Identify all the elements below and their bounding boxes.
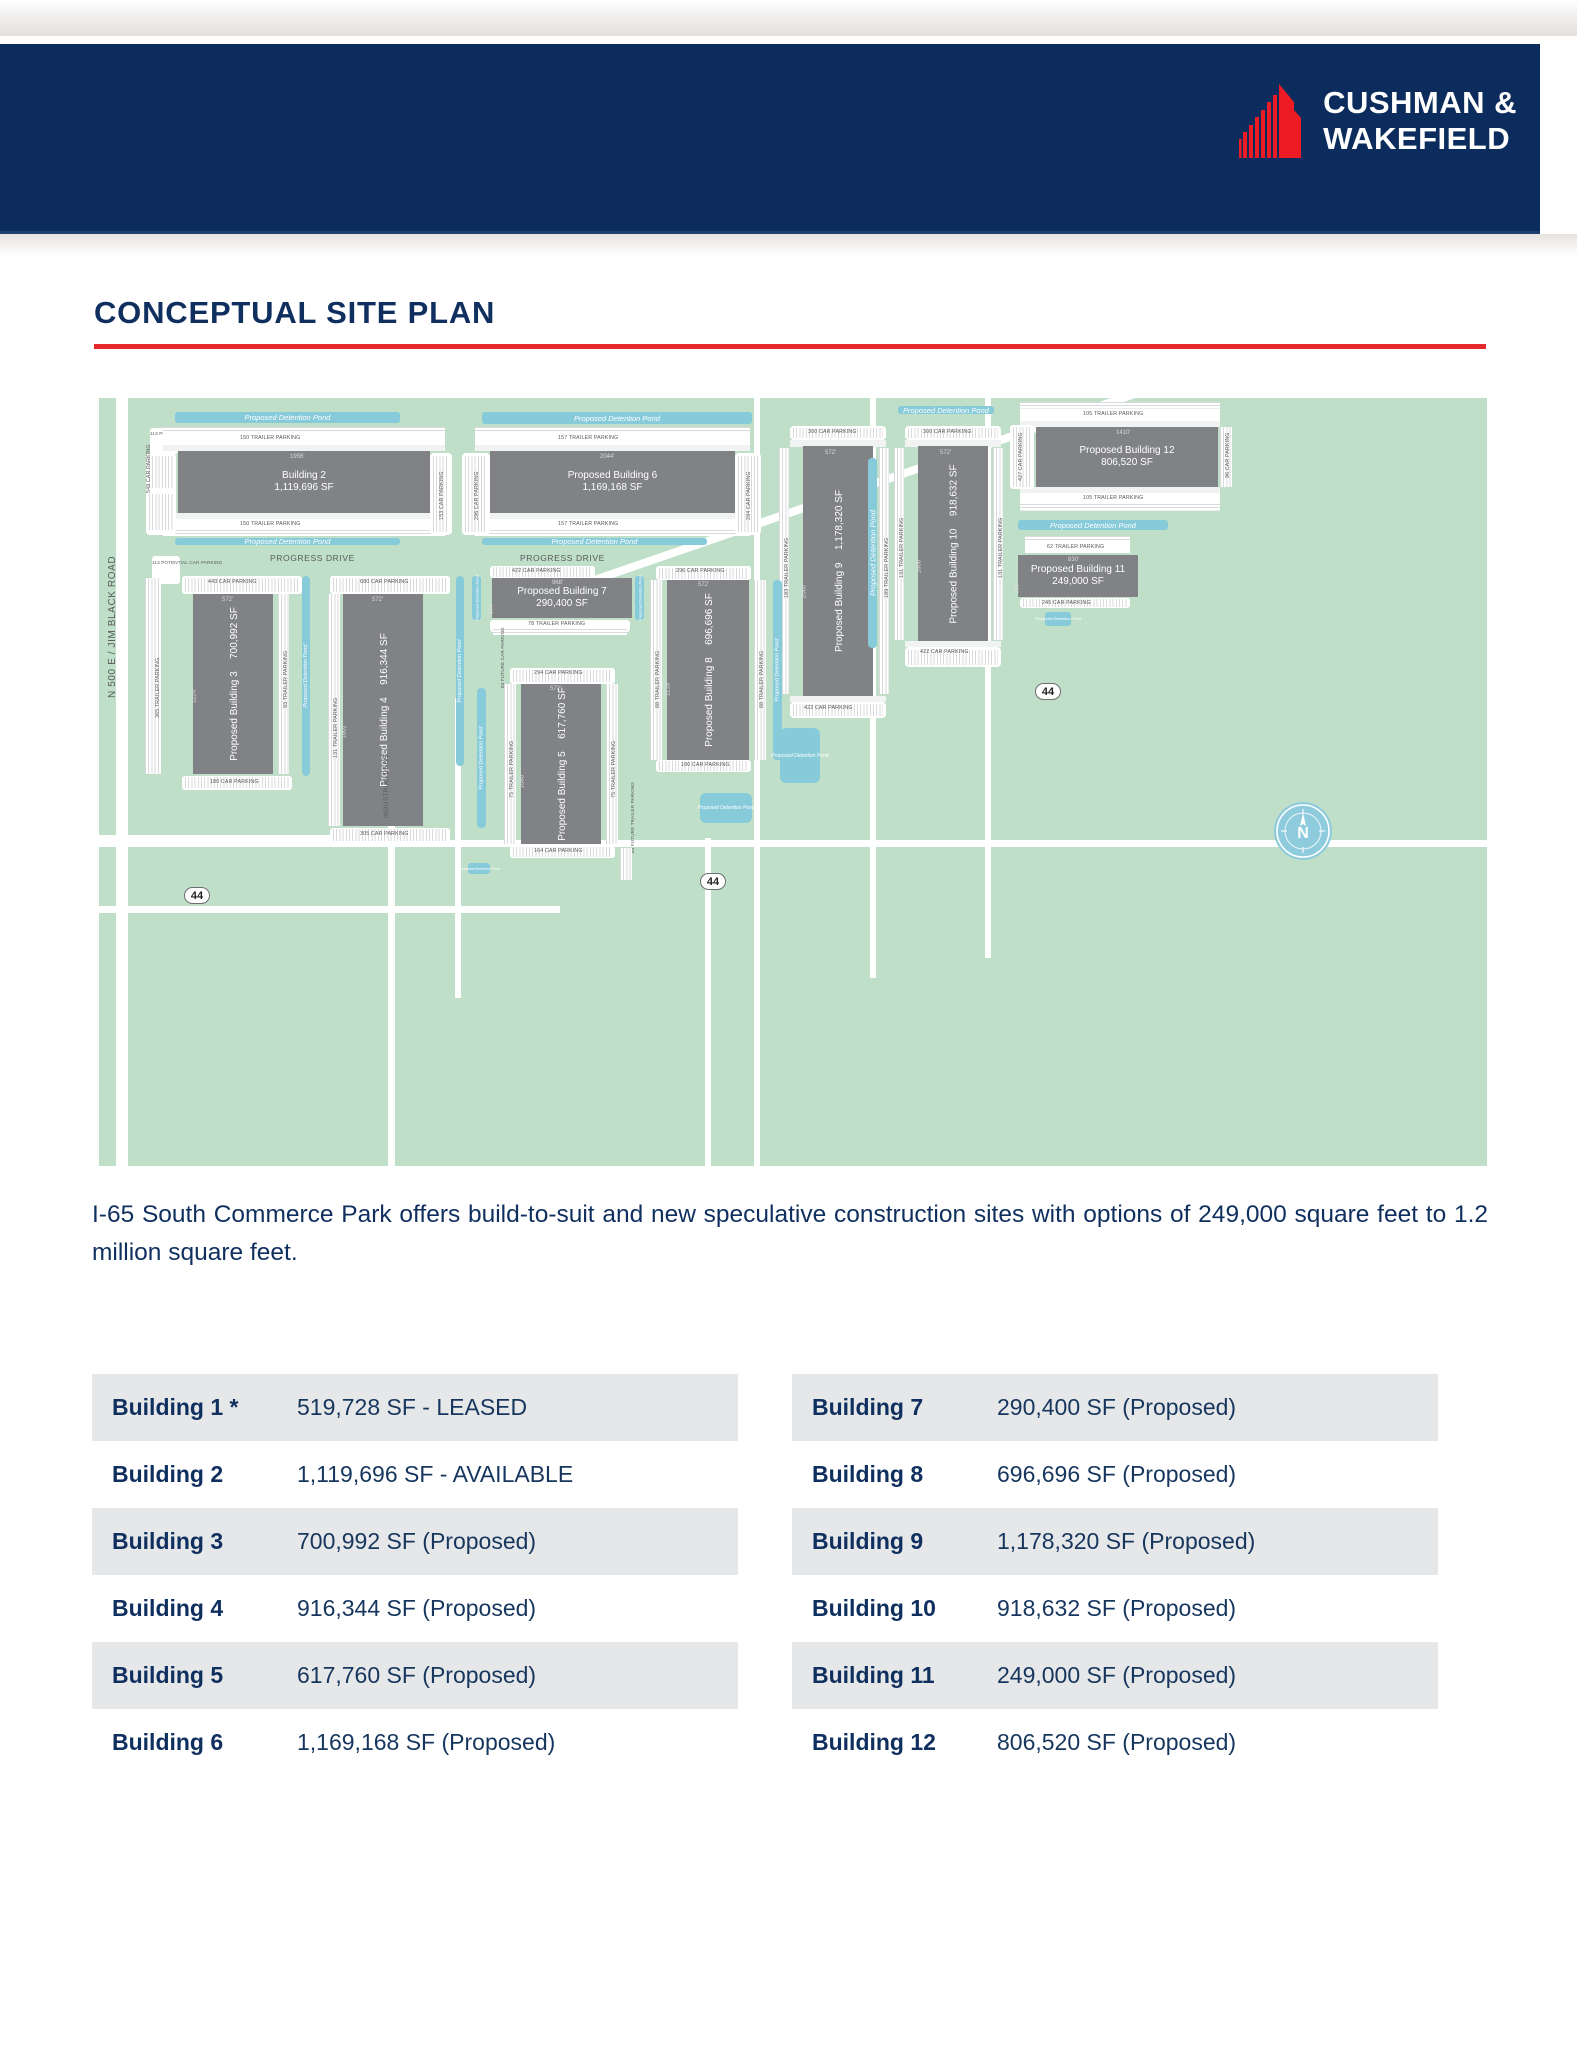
dim-b3-depth: 1224' [191,689,197,704]
pond-label: Proposed Detention Pond [468,863,490,874]
parking-label-305-car: 305 CAR PARKING [360,831,409,837]
parking-label-131-trailer-e: 131 TRAILER PARKING [998,518,1004,578]
building-value: 918,632 SF (Proposed) [997,1595,1236,1622]
parking-label-131-trailer-b4: 131 TRAILER PARKING [333,698,339,758]
conceptual-site-plan-map[interactable]: 113 POTENTIAL CAR PARKING Proposed Deten… [90,398,1487,1166]
pond-label: Proposed Detention Pond [700,793,752,823]
parking-label-296-car: 296 CAR PARKING [474,471,480,520]
building-sf: 1,169,168 SF [582,482,642,495]
building-sf: 806,520 SF [1101,457,1153,470]
pond-b11-south: Proposed Detention Pond [1045,612,1071,626]
dim-b11-depth: 300' [1015,582,1021,593]
parking-label-75-trailer-w: 75 TRAILER PARKING [509,741,515,798]
building-label: Building 10 [812,1595,997,1622]
header-lower-gradient-strip [0,234,1577,256]
table-row[interactable]: Building 8 696,696 SF (Proposed) [792,1441,1438,1508]
building-value: 519,728 SF - LEASED [297,1394,527,1421]
parking-label-78-trailer: 78 TRAILER PARKING [528,621,585,627]
site-plan-page: CUSHMAN & WAKEFIELD CONCEPTUAL SITE PLAN [0,0,1577,2048]
stalls-b7-trailer-s [493,629,627,635]
brand-name-line-1: CUSHMAN & [1323,85,1517,121]
parking-label-96-car: 96 CAR PARKING [1225,432,1231,478]
pond-b6-north: Proposed Detention Pond [482,412,752,424]
building-b2[interactable]: Building 2 1,119,696 SF [178,451,430,513]
building-name: Proposed Building 11 [1031,564,1125,577]
parking-label-680-car: 680 CAR PARKING [360,579,409,585]
highway-shield-44-sw: 44 [184,887,210,904]
parking-label-62-trailer: 62 TRAILER PARKING [1047,544,1104,550]
building-value: 696,696 SF (Proposed) [997,1461,1236,1488]
parking-label-300-car-b10: 300 CAR PARKING [923,429,972,435]
parking-label-300-car-b9: 300 CAR PARKING [808,429,857,435]
building-sf: 249,000 SF [1052,576,1104,589]
stalls-b2-car-west-a [149,456,173,488]
building-value: 1,169,168 SF (Proposed) [297,1729,555,1756]
parking-label-427-car: 427 CAR PARKING [1018,432,1024,481]
table-row[interactable]: Building 12 806,520 SF (Proposed) [792,1709,1438,1776]
parking-label-150-trailer-n: 150 TRAILER PARKING [240,435,300,441]
table-row[interactable]: Building 6 1,169,168 SF (Proposed) [92,1709,738,1776]
parking-label-164-car: 164 CAR PARKING [534,848,583,854]
svg-text:N: N [1297,825,1309,842]
parking-label-549-car: 549 CAR PARKING [146,444,152,493]
table-row[interactable]: Building 3 700,992 SF (Proposed) [92,1508,738,1575]
stalls-b2-trailer-s [163,530,445,536]
page-top-white-gap [0,36,1577,44]
building-name: Proposed Building 9 [834,562,845,652]
pond-sw-small: Proposed Detention Pond [468,863,490,874]
parking-label-157-trailer-n: 157 TRAILER PARKING [558,435,618,441]
pond-label: Proposed Detention Pond [412,754,552,763]
building-label: Building 5 [112,1662,297,1689]
dim-b4-width: 572' [372,597,383,603]
building-label: Building 7 [812,1394,997,1421]
pond-label: Proposed Detention Pond [780,728,820,783]
building-label: Building 4 [112,1595,297,1622]
pond-label: Proposed Detention Pond [1018,520,1168,530]
building-name: Proposed Building 10 [949,528,960,623]
pond-west-of-b5: Proposed Detention Pond [477,688,486,828]
building-b10[interactable]: Proposed Building 10 918,632 SF [918,446,988,641]
building-b4[interactable]: Proposed Building 4 916,344 SF [343,594,423,826]
parking-label-105-trailer-s: 105 TRAILER PARKING [1083,495,1143,501]
building-sf: 916,344 SF [379,633,390,685]
building-b5[interactable]: Proposed Building 5 617,760 SF [521,684,601,844]
building-b3[interactable]: Proposed Building 3 700,992 SF [193,594,273,774]
page-title: CONCEPTUAL SITE PLAN [94,295,495,331]
dim-b7-depth: 300' [489,603,495,614]
lot-b2-trailer-n [163,433,445,445]
table-row[interactable]: Building 2 1,119,696 SF - AVAILABLE [92,1441,738,1508]
page-top-gradient-strip [0,0,1577,36]
pond-se-large: Proposed Detention Pond [780,728,820,783]
parking-label-157-trailer-s: 157 TRAILER PARKING [558,521,618,527]
dim-b5-width: 572' [550,686,561,692]
dim-b12-width: 1410' [1116,430,1131,436]
table-row[interactable]: Building 5 617,760 SF (Proposed) [92,1642,738,1709]
dim-b8-depth: 1218' [665,682,671,697]
building-b10-label-rot: Proposed Building 10 918,632 SF [943,464,963,623]
brand-logo: CUSHMAN & WAKEFIELD [1239,84,1517,158]
stalls-future-trailer [620,848,632,880]
table-row[interactable]: Building 7 290,400 SF (Proposed) [792,1374,1438,1441]
intro-paragraph: I-65 South Commerce Park offers build-to… [92,1196,1488,1272]
parking-label-88-trailer-w: 88 TRAILER PARKING [655,651,661,708]
building-label: Building 12 [812,1729,997,1756]
building-value: 806,520 SF (Proposed) [997,1729,1236,1756]
dim-b5-depth: 1080' [519,774,525,789]
dim-b10-depth: 1606' [916,559,922,574]
building-b3-label-rot: Proposed Building 3 700,992 SF [223,607,243,761]
parking-label-183-trailer: 183 TRAILER PARKING [784,538,790,598]
highway-shield-44-east: 44 [1035,683,1061,700]
stalls-b6-trailer-s [475,530,750,536]
parking-label-443-car: 443 CAR PARKING [208,579,257,585]
road-label-n500e: N 500 E / JIM BLACK ROAD [107,556,118,698]
building-name: Proposed Building 7 [517,586,607,599]
compass-north-icon: N [1274,802,1332,860]
brand-wordmark: CUSHMAN & WAKEFIELD [1323,85,1517,157]
building-name: Proposed Building 3 [229,671,240,761]
parking-label-180-car-b8: 180 CAR PARKING [681,762,730,768]
pond-b6-south: Proposed Detention Pond [482,538,707,545]
dim-b9-width: 572' [825,450,836,456]
building-label: Building 2 [112,1461,297,1488]
map-road-n500e [116,398,128,1166]
map-road-west-edge [90,398,99,1166]
dim-b6-width: 2044' [600,454,615,460]
pond-label: Proposed Detention Pond [778,549,968,558]
road-label-progress-drive-west: PROGRESS DRIVE [270,553,355,563]
dim-b4-depth: 1602' [341,724,347,739]
parking-label-75-trailer-e: 75 TRAILER PARKING [611,741,617,798]
pond-west-of-b7: Proposed Detention Pond [472,576,481,620]
pond-between-b3-b4: Proposed Detention Pond [302,576,310,776]
parking-label-153-car: 153 CAR PARKING [439,471,445,520]
parking-label-189-trailer: 189 TRAILER PARKING [884,538,890,598]
road-label-industrial-drive: INDUSTRIAL DRIVE [384,753,390,818]
parking-label-550-car: 294 CAR PARKING [746,471,752,520]
dim-b2-width: 1956' [290,454,305,460]
stalls-b12-trailer-n [1020,402,1220,409]
pond-label: Proposed Detention Pond [1045,612,1071,626]
parking-label-180-car: 180 CAR PARKING [210,779,259,785]
brand-name-line-2: WAKEFIELD [1323,121,1517,157]
parking-label-294-car: 294 CAR PARKING [534,670,583,676]
building-sf: 1,178,320 SF [834,490,845,550]
pond-b10-north: Proposed Detention Pond [898,406,994,414]
building-label: Building 1 * [112,1394,297,1421]
dim-b9-depth: 2060' [801,584,807,599]
building-value: 249,000 SF (Proposed) [997,1662,1236,1689]
building-b9-label-rot: Proposed Building 9 1,178,320 SF [828,490,848,652]
pond-between-b9-b10: Proposed Detention Pond [868,458,877,648]
building-value: 290,400 SF (Proposed) [997,1394,1236,1421]
building-sf: 617,760 SF [557,687,568,739]
dim-b3-width: 572' [222,597,233,603]
building-sf: 1,119,696 SF [274,482,333,495]
building-value: 617,760 SF (Proposed) [297,1662,536,1689]
stalls-b12-trailer-s [1020,504,1220,511]
building-b4-label-rot: Proposed Building 4 916,344 SF [373,633,393,787]
building-value: 1,119,696 SF - AVAILABLE [297,1461,573,1488]
pond-east-of-b7: Proposed Detention Pond [635,576,644,620]
pond-label: Proposed Detention Pond [688,666,868,675]
cushman-wakefield-buildings-logo-icon [1239,84,1301,158]
building-label: Building 3 [112,1528,297,1555]
parking-label-245-car: 245 CAR PARKING [1042,600,1091,606]
parking-label-105-trailer-n: 105 TRAILER PARKING [1083,411,1143,417]
pond-label: Proposed Detention Pond [175,412,400,423]
building-table-right: Building 7 290,400 SF (Proposed) Buildin… [792,1374,1438,1776]
pond-label: Proposed Detention Pond [482,412,752,424]
map-canvas: 113 POTENTIAL CAR PARKING Proposed Deten… [90,398,1487,1166]
pond-se-medium: Proposed Detention Pond [700,793,752,823]
pond-label: Proposed Detention Pond [898,406,994,414]
dim-b10-width: 572' [940,450,951,456]
table-row[interactable]: Building 4 916,344 SF (Proposed) [92,1575,738,1642]
parking-label-422-car-b9: 422 CAR PARKING [804,705,853,711]
building-b9[interactable]: Proposed Building 9 1,178,320 SF [803,446,873,696]
pond-label: Proposed Detention Pond [482,538,707,545]
building-b12[interactable]: Proposed Building 12 806,520 SF [1036,427,1218,487]
building-name: Building 2 [282,470,326,483]
building-table-left: Building 1 * 519,728 SF - LEASED Buildin… [92,1374,738,1776]
pond-east-of-b4: Proposed Detention Pond [456,576,464,766]
dim-b7-width: 968' [552,580,563,586]
building-name: Proposed Building 12 [1079,445,1174,458]
table-row[interactable]: Building 10 918,632 SF (Proposed) [792,1575,1438,1642]
building-value: 916,344 SF (Proposed) [297,1595,536,1622]
building-b6[interactable]: Proposed Building 6 1,169,168 SF [490,451,735,513]
pond-b11-north: Proposed Detention Pond [1018,520,1168,530]
building-value: 1,178,320 SF (Proposed) [997,1528,1255,1555]
building-sf: 700,992 SF [229,607,240,659]
dim-b11-width: 830' [1068,557,1079,563]
table-row[interactable]: Building 9 1,178,320 SF (Proposed) [792,1508,1438,1575]
pond-label: Proposed Detention Pond [175,538,400,545]
pond-b2-south: Proposed Detention Pond [175,538,400,545]
building-sf: 290,400 SF [536,598,588,611]
building-value: 700,992 SF (Proposed) [297,1528,536,1555]
building-sf: 918,632 SF [949,464,960,516]
table-row[interactable]: Building 11 249,000 SF (Proposed) [792,1642,1438,1709]
building-label: Building 9 [812,1528,997,1555]
parking-label-150-trailer-s: 150 TRAILER PARKING [240,521,300,527]
building-sf: 696,696 SF [704,593,715,645]
building-b5-label-rot: Proposed Building 5 617,760 SF [551,687,571,841]
dim-b8-width: 572' [698,582,709,588]
highway-shield-44-south: 44 [700,873,726,890]
parking-label-88-trailer-e: 88 TRAILER PARKING [759,651,765,708]
pond-b2-north: Proposed Detention Pond [175,412,400,423]
building-name: Proposed Building 6 [568,470,658,483]
parking-label-113-potential-car-2: 113 POTENTIAL CAR PARKING [152,560,182,566]
pond-label: Proposed Detention Pond [455,594,499,603]
parking-label-65-future-trailer: 65 FUTURE TRAILER PARKING [630,807,636,853]
lot-b2-trailer-s [163,519,445,530]
parking-label-422-car-b10: 422 CAR PARKING [920,649,969,655]
building-label: Building 6 [112,1729,297,1756]
stalls-b2-car-west-b [149,494,173,530]
parking-label-296-car-b8: 296 CAR PARKING [676,568,725,574]
building-label: Building 11 [812,1662,997,1689]
table-row[interactable]: Building 1 * 519,728 SF - LEASED [92,1374,738,1441]
road-label-progress-drive-east: PROGRESS DRIVE [520,553,605,563]
parking-label-83-future-car: 83 FUTURE CAR PARKING [500,648,506,688]
parking-label-422-car-b7: 422 CAR PARKING [512,568,561,574]
map-road-hwy44-west [90,906,560,913]
title-red-rule [94,344,1486,349]
parking-label-365-trailer: 365 TRAILER PARKING [155,658,161,718]
building-name: Proposed Building 5 [557,751,568,841]
building-label: Building 8 [812,1461,997,1488]
